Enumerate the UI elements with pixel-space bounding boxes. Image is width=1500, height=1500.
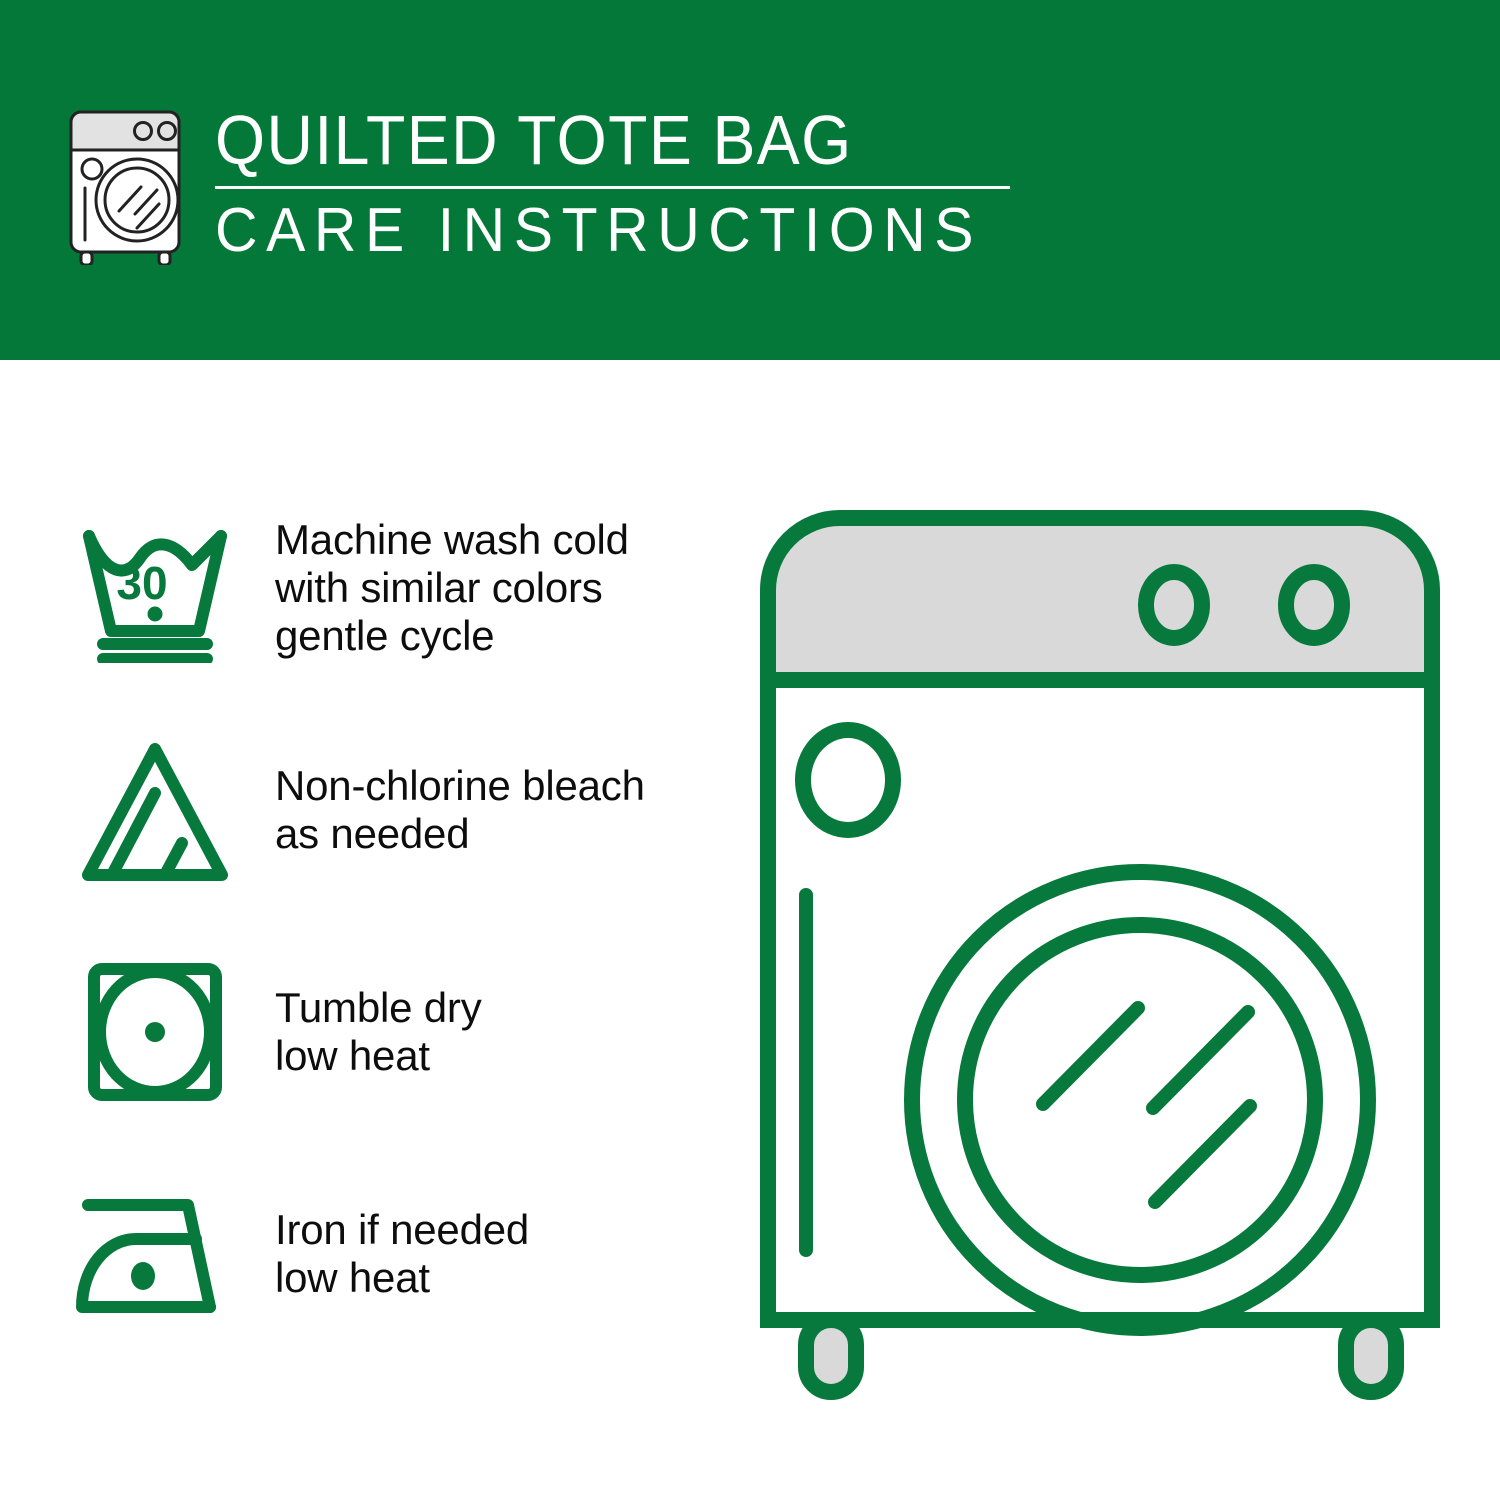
header-titles: QUILTED TOTE BAG CARE INSTRUCTIONS [215, 100, 1055, 263]
page-subtitle: CARE INSTRUCTIONS [215, 199, 1013, 263]
care-label-iron: Iron if needed low heat [275, 1206, 720, 1302]
front-load-washing-machine-illustration [740, 490, 1460, 1440]
door-glass-streaks [1043, 1008, 1250, 1202]
iron-low-heat-icon [70, 1179, 240, 1329]
care-row-tumble-dry: Tumble dry low heat [70, 949, 720, 1114]
header-band: QUILTED TOTE BAG CARE INSTRUCTIONS [0, 0, 1500, 360]
wash-temperature-value: 30 [116, 557, 167, 609]
detergent-dispenser [803, 730, 893, 830]
machine-door-outer-ring [912, 872, 1368, 1328]
care-row-bleach: Non-chlorine bleach as needed [70, 727, 720, 892]
washing-machine-logo-icon [55, 100, 195, 265]
tumble-dry-low-icon [70, 957, 240, 1107]
machine-wash-30-icon: 30 [70, 513, 240, 663]
care-label-tumble-dry: Tumble dry low heat [275, 984, 720, 1080]
care-label-machine-wash: Machine wash cold with similar colors ge… [275, 516, 720, 660]
foot-left [806, 1320, 856, 1392]
care-row-iron: Iron if needed low heat [70, 1171, 720, 1336]
care-label-bleach: Non-chlorine bleach as needed [275, 762, 720, 858]
machine-door-inner-ring [965, 925, 1315, 1275]
foot-right [1346, 1320, 1396, 1392]
title-divider [215, 186, 1010, 189]
care-instruction-list: 30 Machine wash cold with similar colors… [70, 505, 720, 1336]
header-content: QUILTED TOTE BAG CARE INSTRUCTIONS [55, 100, 1055, 280]
page-title: QUILTED TOTE BAG [215, 104, 988, 176]
control-panel [768, 518, 1432, 680]
care-row-machine-wash: 30 Machine wash cold with similar colors… [70, 505, 720, 670]
non-chlorine-bleach-triangle-icon [70, 735, 240, 885]
